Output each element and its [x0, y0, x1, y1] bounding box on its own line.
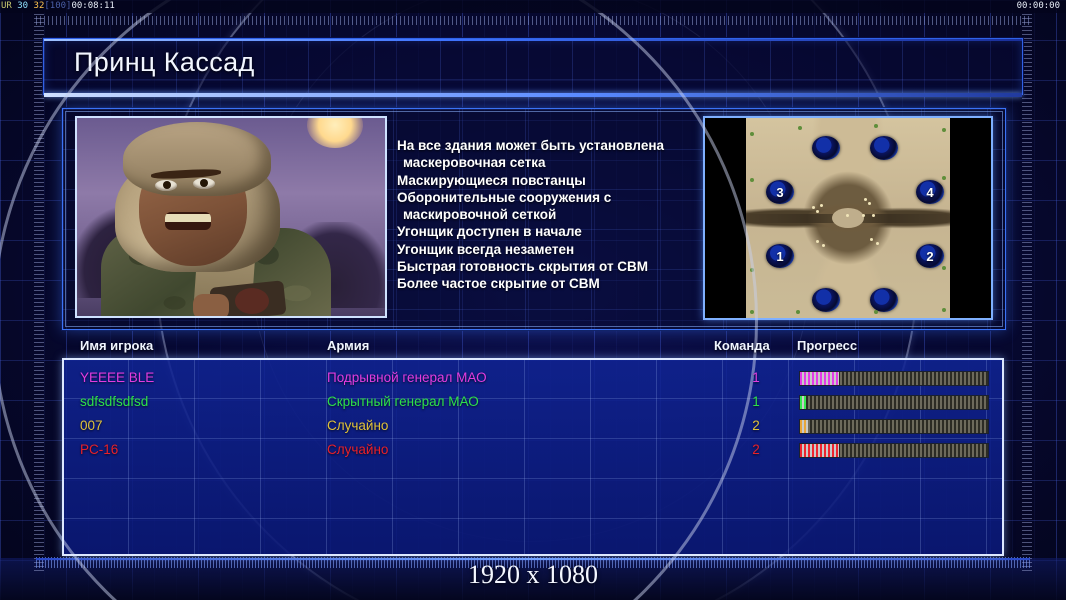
- header-player-name: Имя игрока: [80, 338, 153, 353]
- progress-track: [800, 396, 988, 409]
- ruler-right: [1022, 14, 1032, 574]
- portrait-hand: [193, 294, 229, 318]
- ability-line: Оборонительные сооружения с: [397, 189, 697, 206]
- map-start-position-label: 4: [916, 180, 944, 204]
- map-resource: [816, 240, 819, 243]
- ability-line: Маскирующиеся повстанцы: [397, 172, 697, 189]
- portrait-teeth: [165, 214, 211, 222]
- status-seg-bracket: [100]: [44, 1, 71, 11]
- map-center-island: [832, 208, 864, 228]
- map-resource: [822, 244, 825, 247]
- status-right-time: 00:00:00: [1017, 0, 1060, 12]
- progress-fill: [800, 420, 808, 433]
- map-resource: [868, 202, 871, 205]
- ability-line: Быстрая готовность скрытия от СВМ: [397, 258, 697, 275]
- player-table-header: Имя игрока Армия Команда Прогресс: [62, 338, 1004, 358]
- status-seg-fps: 30: [17, 1, 28, 11]
- general-info-panel: На все здания может быть установленамаск…: [62, 108, 1006, 330]
- map-start-position[interactable]: 1: [766, 244, 794, 268]
- game-screen: UR 30 32[100]00:08:11 00:00:00 Принц Кас…: [0, 0, 1066, 600]
- map-resource: [864, 198, 867, 201]
- table-row[interactable]: sdfsdfsdfsdСкрытный генерал МАО1: [62, 390, 1004, 414]
- ability-line: Более частое скрытие от СВМ: [397, 275, 697, 292]
- map-vegetation: [796, 310, 800, 314]
- map-preview: 3412: [703, 116, 993, 320]
- header-team: Команда: [714, 338, 770, 353]
- header-army: Армия: [327, 338, 369, 353]
- status-seg-count: 32: [34, 1, 45, 11]
- ability-line: маскеровочная сетка: [397, 154, 697, 171]
- player-team[interactable]: 2: [746, 414, 766, 438]
- portrait-pupil-right: [200, 179, 208, 187]
- status-left-text: UR 30 32[100]00:08:11: [1, 0, 115, 12]
- map-start-position[interactable]: 4: [916, 180, 944, 204]
- player-army[interactable]: Подрывной генерал МАО: [327, 366, 487, 390]
- player-name: 007: [80, 414, 103, 438]
- map-vegetation: [750, 310, 754, 314]
- table-row[interactable]: PC-16Случайно2: [62, 438, 1004, 462]
- title-panel-top-bar: [44, 39, 1022, 41]
- ability-line: Угонщик доступен в начале: [397, 223, 697, 240]
- map-resource: [816, 210, 819, 213]
- status-seg-clock: 00:08:11: [71, 1, 114, 11]
- table-row[interactable]: YEEEE BLEПодрывной генерал МАО1: [62, 366, 1004, 390]
- map-letterbox-right: [950, 118, 991, 318]
- ruler-top: [36, 16, 1030, 25]
- map-vegetation: [750, 178, 754, 182]
- map-vegetation: [750, 268, 754, 272]
- map-start-position[interactable]: [870, 136, 898, 160]
- portrait-mouth: [165, 212, 211, 230]
- portrait-pupil-left: [163, 181, 171, 189]
- player-name: sdfsdfsdfsd: [80, 390, 148, 414]
- title-panel: Принц Кассад: [43, 38, 1023, 95]
- map-start-position-label: 1: [766, 244, 794, 268]
- map-vegetation: [942, 266, 946, 270]
- map-vegetation: [942, 128, 946, 132]
- map-resource: [870, 238, 873, 241]
- status-seg-ur: UR: [1, 1, 12, 11]
- status-bar: UR 30 32[100]00:08:11 00:00:00: [0, 0, 1066, 13]
- map-start-position[interactable]: 2: [916, 244, 944, 268]
- player-progress-bar: [799, 443, 989, 458]
- map-resource: [872, 214, 875, 217]
- portrait-weapon-detail: [235, 288, 269, 314]
- map-start-position-label: 2: [916, 244, 944, 268]
- page-title: Принц Кассад: [74, 47, 255, 78]
- map-letterbox-left: [705, 118, 746, 318]
- player-team[interactable]: 1: [746, 366, 766, 390]
- player-progress-bar: [799, 371, 989, 386]
- map-vegetation: [798, 126, 802, 130]
- ability-line: маскировочной сеткой: [397, 206, 697, 223]
- ability-line: Угонщик всегда незаметен: [397, 241, 697, 258]
- map-vegetation: [942, 308, 946, 312]
- player-team[interactable]: 2: [746, 438, 766, 462]
- map-resource: [846, 214, 849, 217]
- player-army[interactable]: Случайно: [327, 438, 388, 462]
- map-resource: [862, 214, 865, 217]
- title-panel-bottom-bar: [44, 93, 1022, 97]
- player-name: YEEEE BLE: [80, 366, 154, 390]
- player-progress-bar: [799, 395, 989, 410]
- map-resource: [820, 204, 823, 207]
- general-ability-list: На все здания может быть установленамаск…: [397, 137, 697, 293]
- map-vegetation: [750, 132, 754, 136]
- progress-fill: [800, 372, 839, 385]
- ability-line: На все здания может быть установлена: [397, 137, 697, 154]
- player-progress-bar: [799, 419, 989, 434]
- player-army[interactable]: Скрытный генерал МАО: [327, 390, 479, 414]
- player-name: PC-16: [80, 438, 118, 462]
- map-vegetation: [874, 124, 878, 128]
- map-resource: [812, 206, 815, 209]
- player-list-panel: YEEEE BLEПодрывной генерал МАО1sdfsdfsdf…: [62, 358, 1004, 556]
- map-resource: [876, 242, 879, 245]
- map-start-position-label: 3: [766, 180, 794, 204]
- map-start-position[interactable]: [812, 136, 840, 160]
- map-start-position[interactable]: [870, 288, 898, 312]
- map-vegetation: [874, 310, 878, 314]
- general-portrait: [75, 116, 387, 318]
- ruler-left: [34, 14, 44, 574]
- map-vegetation: [942, 176, 946, 180]
- table-row[interactable]: 007Случайно2: [62, 414, 1004, 438]
- map-start-position[interactable]: 3: [766, 180, 794, 204]
- progress-fill: [800, 444, 839, 457]
- player-army[interactable]: Случайно: [327, 414, 388, 438]
- header-progress: Прогресс: [797, 338, 857, 353]
- progress-fill: [800, 396, 806, 409]
- map-start-position[interactable]: [812, 288, 840, 312]
- progress-track: [800, 420, 988, 433]
- resolution-watermark: 1920 x 1080: [0, 560, 1066, 590]
- player-team[interactable]: 1: [746, 390, 766, 414]
